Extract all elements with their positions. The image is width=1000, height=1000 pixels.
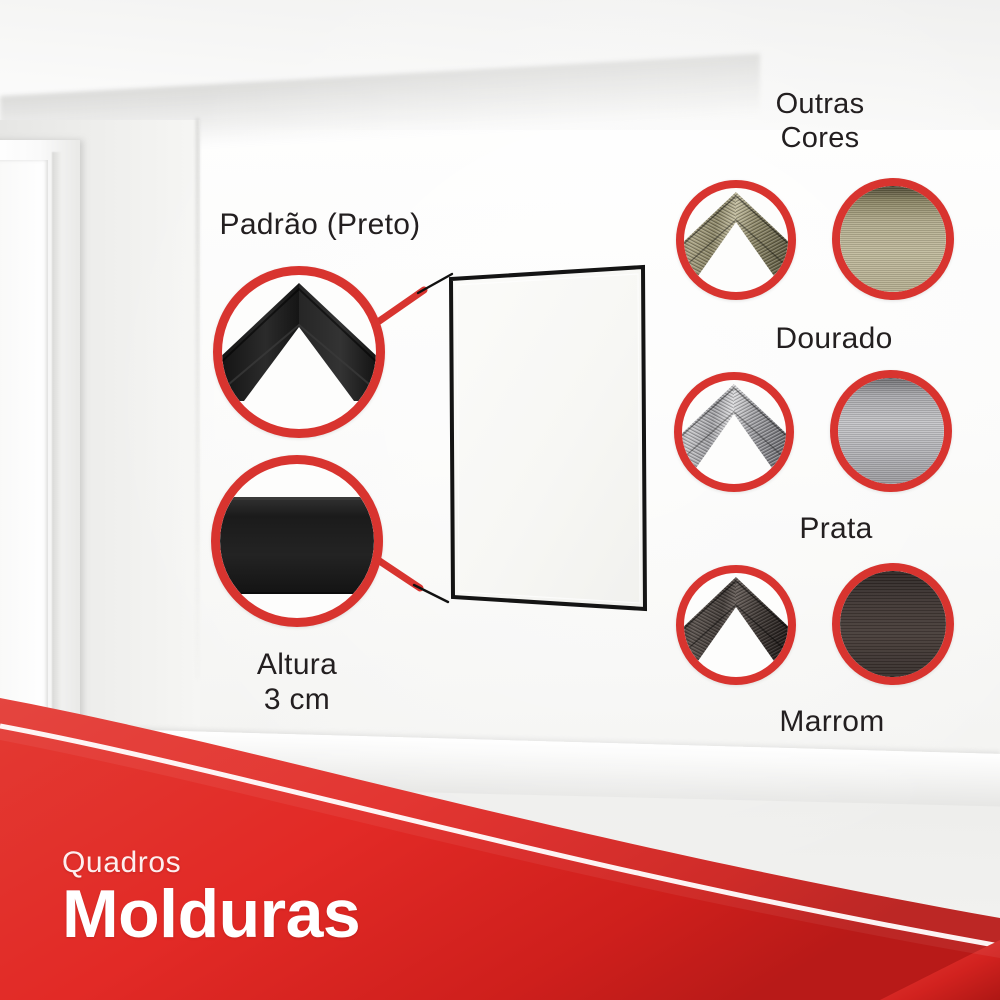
altura-profile-image [220, 464, 374, 618]
silver-brushed-grain [838, 378, 944, 484]
label-outras-line2: Cores [781, 122, 860, 154]
product-infographic: Padrão (Preto) [0, 0, 1000, 1000]
swatch-dourado-corner-circle [676, 180, 796, 300]
label-outras-cores: OutrasCores [700, 88, 940, 155]
padrao-preto-corner-image [222, 275, 376, 429]
dourado-swatch-image [840, 186, 946, 292]
gold-frame-corner-icon [684, 188, 788, 292]
label-dourado: Dourado [714, 322, 954, 357]
black-frame-corner-icon [222, 275, 376, 429]
black-frame-profile-icon [220, 497, 374, 594]
framed-canvas-preview [443, 265, 661, 613]
label-outras-line1: Outras [776, 88, 865, 120]
callout-altura-circle [211, 455, 383, 627]
label-padrao-preto: Padrão (Preto) [170, 208, 470, 243]
gold-wood-grain [840, 186, 946, 292]
silver-frame-corner-icon [682, 380, 786, 484]
swatch-prata-color-circle [830, 370, 952, 492]
swatch-prata-corner-circle [674, 372, 794, 492]
brand-title: Molduras [62, 880, 360, 949]
brand-subtitle: Quadros [62, 848, 360, 878]
prata-swatch-image [838, 378, 944, 484]
prata-corner-image [682, 380, 786, 484]
callout-padrao-preto-circle [213, 266, 385, 438]
swatch-dourado-color-circle [832, 178, 954, 300]
label-prata: Prata [716, 512, 956, 547]
dourado-corner-image [684, 188, 788, 292]
brand-text-block: Quadros Molduras [62, 848, 360, 949]
